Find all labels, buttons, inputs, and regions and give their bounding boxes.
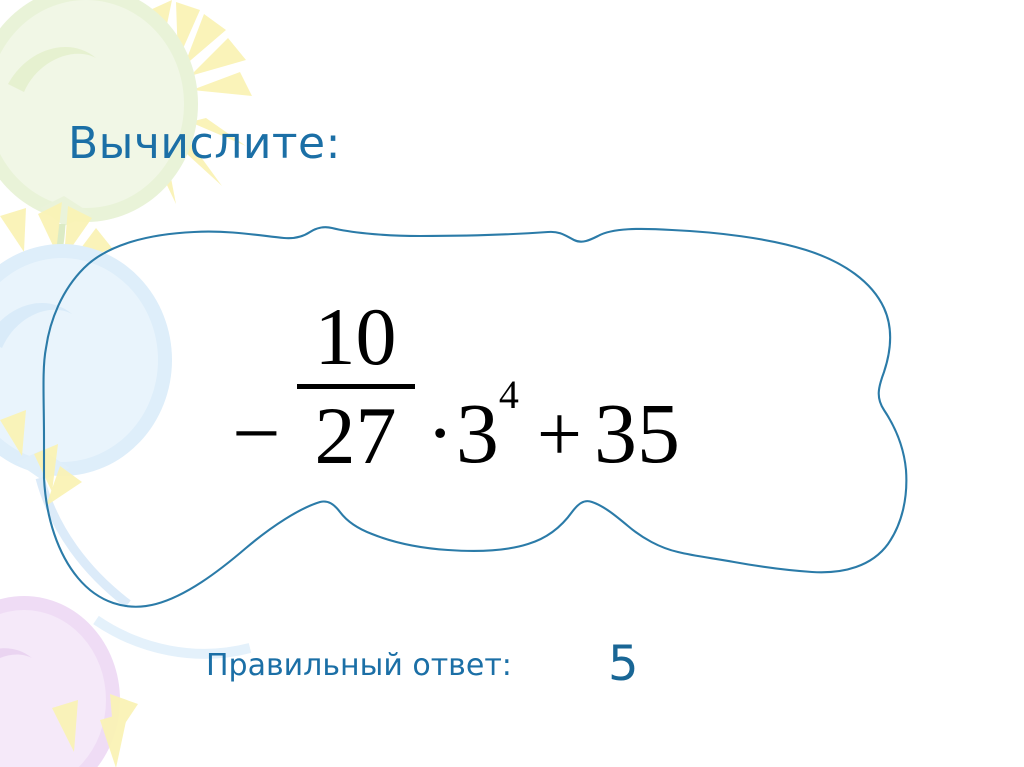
purple-balloon: [0, 596, 120, 767]
addend-term: 35: [594, 390, 680, 476]
power-base: 3: [456, 390, 499, 476]
minus-sign: −: [232, 390, 281, 476]
ray-group-lower: [0, 410, 82, 506]
answer-label: Правильный ответ:: [206, 648, 512, 683]
blue-balloon: [0, 244, 172, 604]
fraction: 10 27: [297, 296, 415, 477]
fraction-denominator: 27: [307, 395, 405, 477]
ray-group-top: [74, 0, 252, 208]
ray-group-bottom: [52, 694, 138, 767]
ray-group-middle: [0, 202, 112, 300]
fraction-bar: [297, 384, 415, 389]
plus-sign: +: [537, 395, 582, 475]
page-title: Вычислите:: [68, 118, 341, 169]
math-expression: − 10 27 · 3 4 + 35: [232, 296, 680, 477]
fraction-numerator: 10: [307, 296, 405, 378]
power-exponent: 4: [499, 375, 519, 415]
multiplication-dot: ·: [427, 392, 454, 474]
slide-canvas: Вычислите: − 10 27 · 3 4 + 35 Правильный…: [0, 0, 1024, 767]
answer-value: 5: [608, 636, 639, 692]
